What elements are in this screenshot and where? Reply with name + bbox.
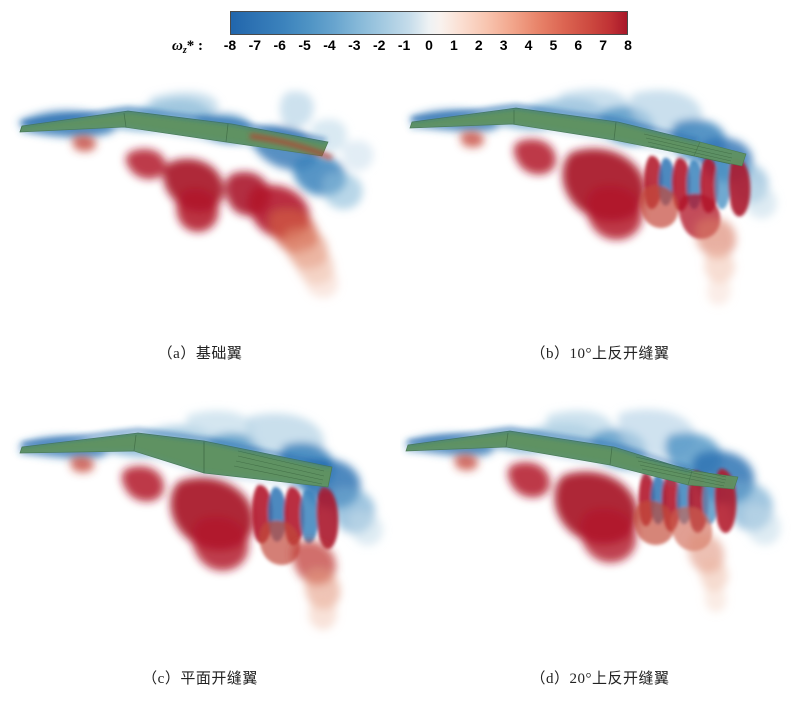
colorbar-tick: 5 <box>542 37 564 53</box>
panel-d-svg <box>400 395 800 660</box>
colorbar-tick: 7 <box>592 37 614 53</box>
colorbar-tick: -7 <box>244 37 266 53</box>
panel-grid: （a）基础翼 <box>0 70 800 720</box>
colorbar-region: ωz* : <box>0 0 800 70</box>
panel-c: （c）平面开缝翼 <box>0 395 400 720</box>
trailing-red-wake <box>695 217 736 305</box>
colorbar-tick: 4 <box>518 37 540 53</box>
colorbar-tick: 8 <box>617 37 639 53</box>
panel-b-svg <box>400 70 800 335</box>
colorbar-tick: 0 <box>418 37 440 53</box>
trailing-red-wake <box>292 541 340 630</box>
panel-a: （a）基础翼 <box>0 70 400 395</box>
lower-surface-red-vorticity <box>454 454 638 563</box>
colorbar-tick: -3 <box>343 37 365 53</box>
colorbar-axis-label: ωz* : <box>172 38 203 56</box>
panel-c-caption: （c）平面开缝翼 <box>0 667 400 688</box>
slot-vortex-fingers <box>640 156 751 239</box>
panel-b-caption: （b）10°上反开缝翼 <box>400 342 800 363</box>
colorbar-tick: -8 <box>219 37 241 53</box>
colorbar-gradient <box>230 11 628 35</box>
colorbar-tick: -6 <box>269 37 291 53</box>
panel-b: （b）10°上反开缝翼 <box>400 70 800 395</box>
panel-d-caption: （d）20°上反开缝翼 <box>400 667 800 688</box>
omega-symbol: ω <box>172 38 183 54</box>
panel-c-visualization <box>0 395 400 660</box>
trailing-red-wake <box>688 533 728 612</box>
panel-c-svg <box>0 395 400 660</box>
colorbar-tick: 3 <box>493 37 515 53</box>
colorbar-tick: -4 <box>319 37 341 53</box>
lower-surface-red-vorticity <box>460 131 646 240</box>
colorbar-tick: -1 <box>393 37 415 53</box>
colorbar-gradient-svg <box>231 12 627 34</box>
panel-b-visualization <box>400 70 800 335</box>
colorbar-tick: 1 <box>443 37 465 53</box>
colorbar-tick: 6 <box>567 37 589 53</box>
omega-suffix: * : <box>187 38 203 54</box>
panel-d: （d）20°上反开缝翼 <box>400 395 800 720</box>
colorbar-tick: 2 <box>468 37 490 53</box>
panel-a-svg <box>0 70 400 335</box>
panel-d-visualization <box>400 395 800 660</box>
panel-a-visualization <box>0 70 400 335</box>
colorbar-tick: -5 <box>294 37 316 53</box>
panel-a-caption: （a）基础翼 <box>0 342 400 363</box>
colorbar-tick-labels: -8 -7 -6 -5 -4 -3 -2 -1 0 1 2 3 4 5 6 7 … <box>230 37 628 57</box>
colorbar-tick: -2 <box>368 37 390 53</box>
